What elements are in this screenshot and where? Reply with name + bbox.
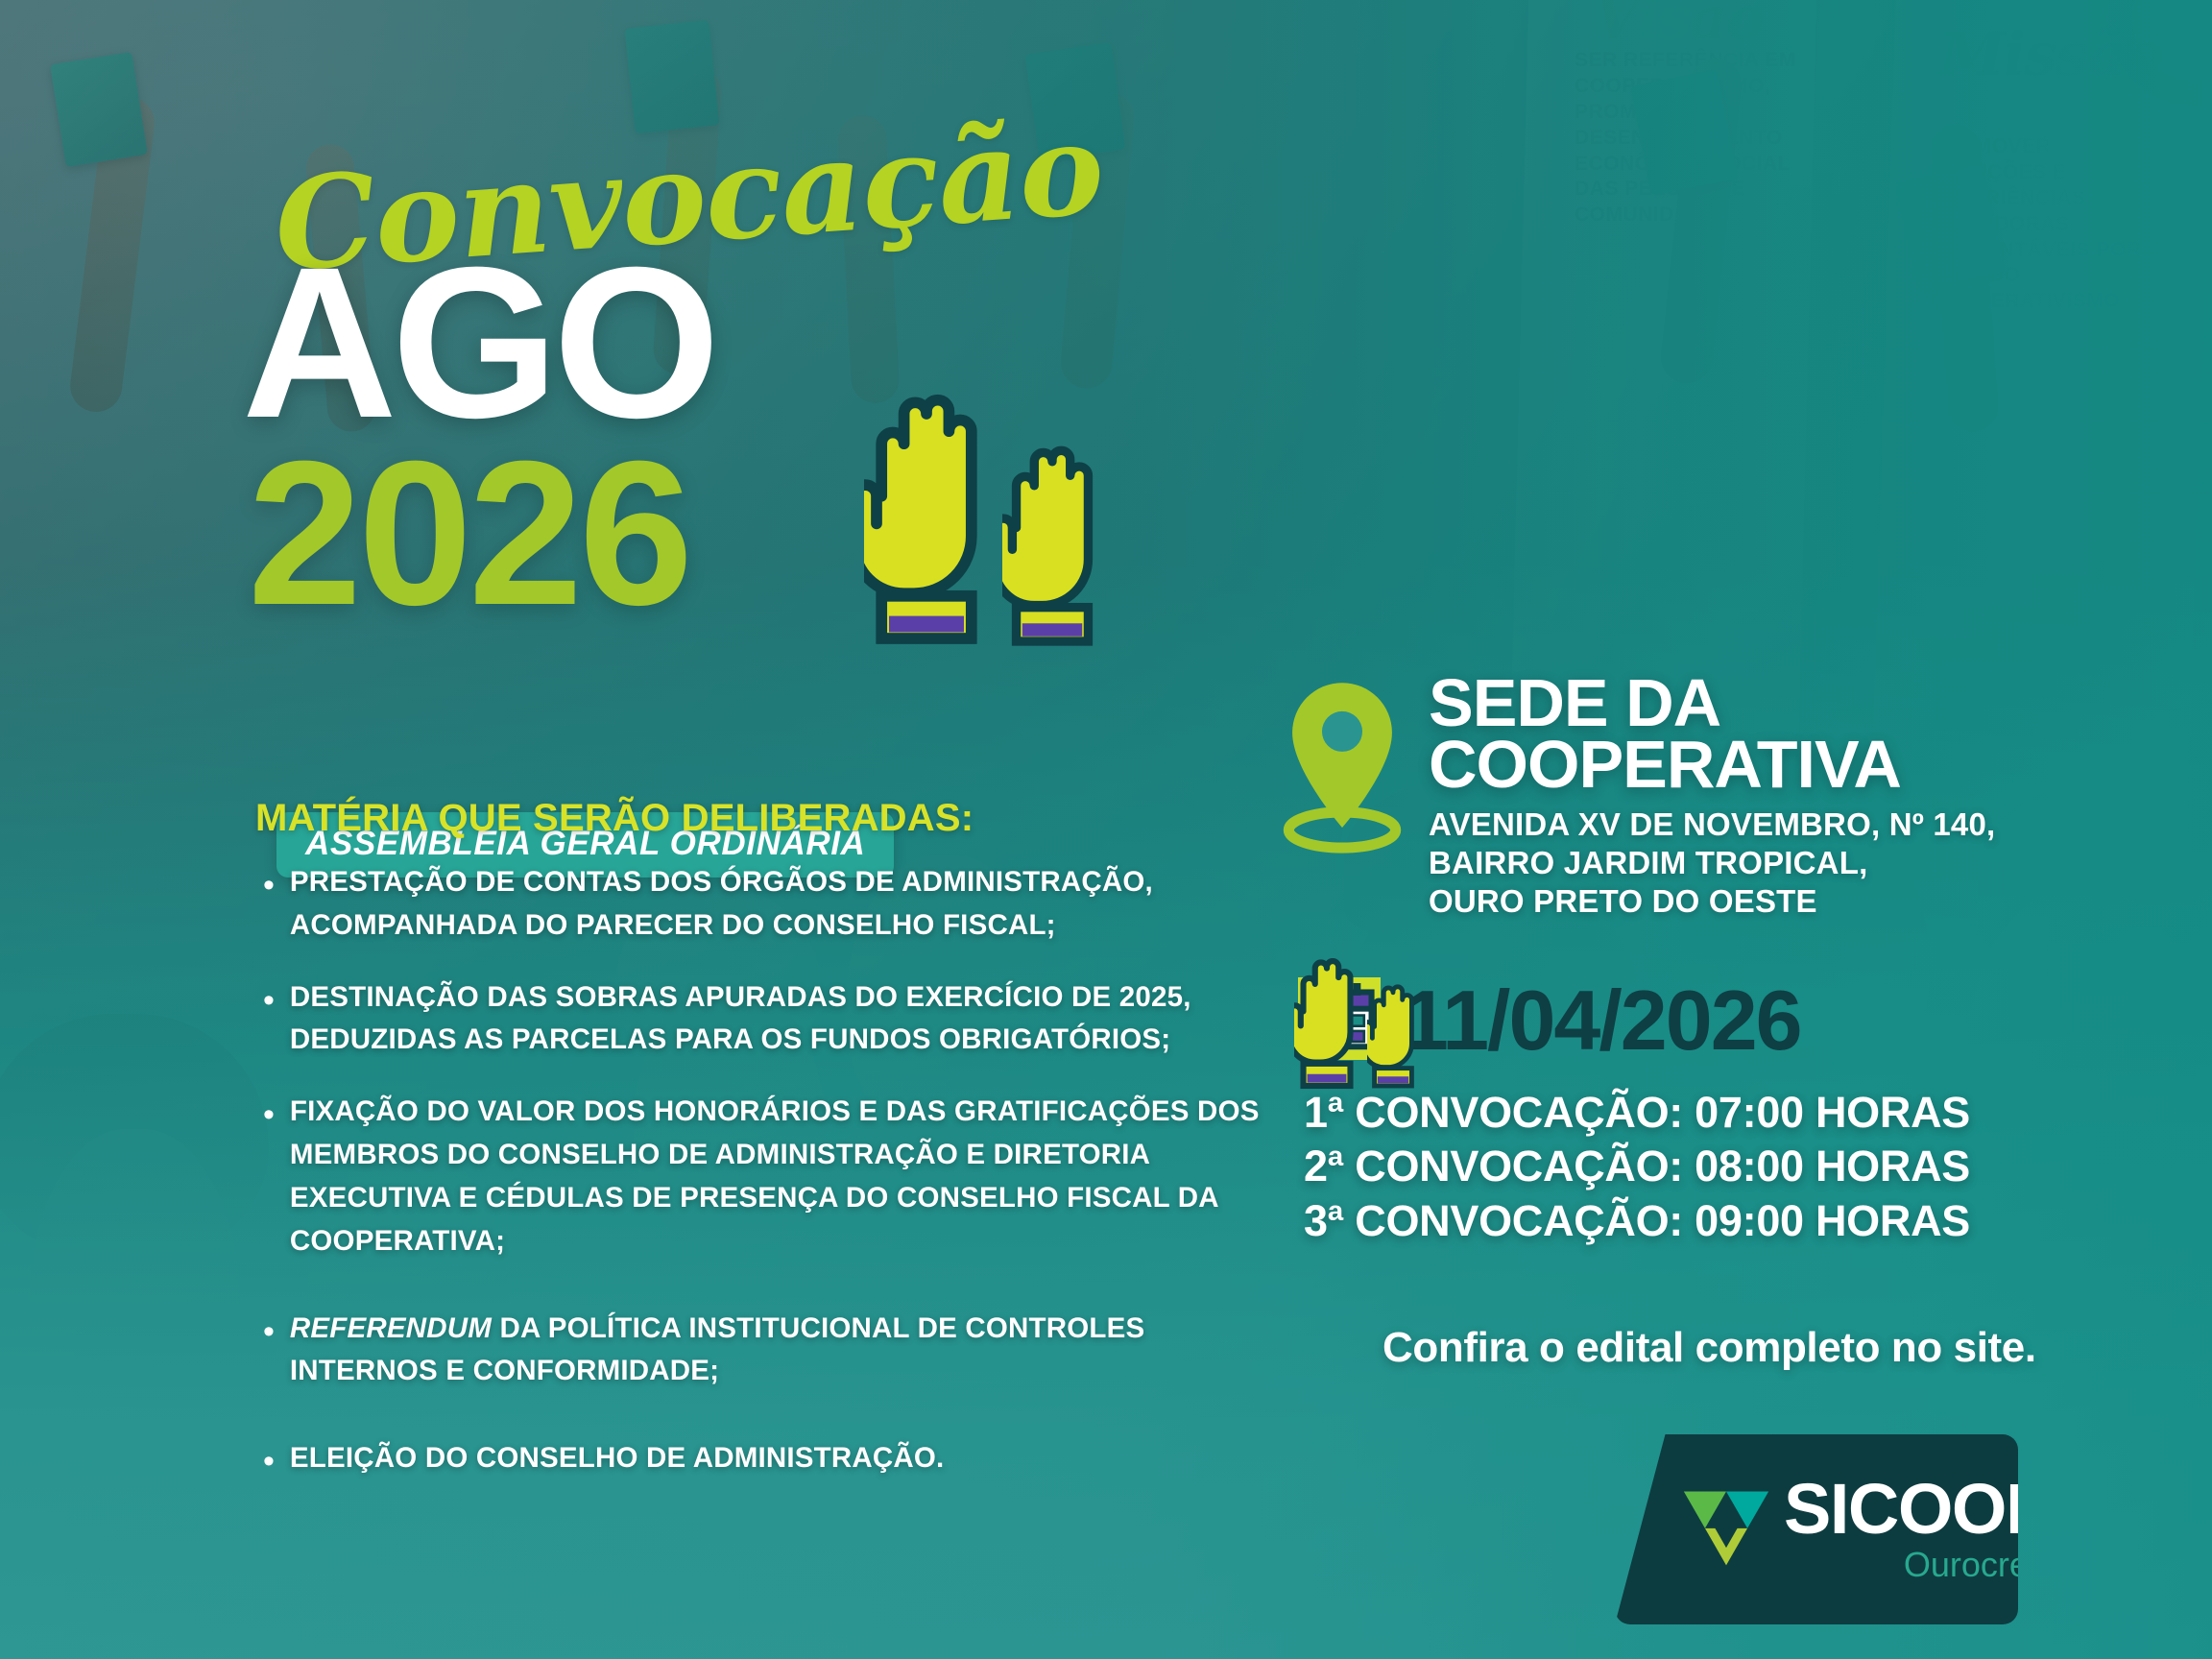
poster-root: Visão SER REFERÊNCIA EM COOPERATIVISMO, … [0, 0, 2212, 1659]
address-line-1: AVENIDA XV DE NOVEMBRO, Nº 140, [1429, 805, 1995, 844]
bullet-icon: • [263, 869, 275, 948]
agenda-item: • ELEIÇÃO DO CONSELHO DE ADMINISTRAÇÃO. [255, 1437, 1273, 1480]
agenda-item-text: ELEIÇÃO DO CONSELHO DE ADMINISTRAÇÃO. [290, 1437, 945, 1480]
raised-hands-icon-large [864, 374, 1102, 653]
location-title-line1: SEDE DA [1429, 672, 1995, 733]
location-address: AVENIDA XV DE NOVEMBRO, Nº 140, BAIRRO J… [1429, 805, 1995, 922]
convocation-time: 3ª CONVOCAÇÃO: 09:00 HORAS [1304, 1194, 2189, 1249]
bullet-icon: • [263, 1098, 275, 1262]
location-title-line2: COOPERATIVA [1429, 733, 1995, 795]
agenda-item: • PRESTAÇÃO DE CONTAS DOS ÓRGÃOS DE ADMI… [255, 861, 1273, 948]
agenda-item: • DESTINAÇÃO DAS SOBRAS APURADAS DO EXER… [255, 976, 1273, 1063]
convocation-time: 1ª CONVOCAÇÃO: 07:00 HORAS [1304, 1086, 2189, 1141]
address-line-2: BAIRRO JARDIM TROPICAL, [1429, 844, 1995, 882]
agenda-item-emphasis: REFERENDUM [290, 1312, 492, 1344]
logo-text: SICOOB Ourocredi [1784, 1477, 2056, 1582]
raised-hands-icon-small [1294, 949, 1419, 1093]
year-2026: 2026 [248, 449, 689, 617]
address-line-3: OURO PRETO DO OESTE [1429, 882, 1995, 921]
poster-content: Convocação AGO 2026 ASSEMBLEIA GERAL ORD… [0, 0, 2212, 1659]
sicoob-v-mark-icon [1680, 1480, 1772, 1577]
agenda-item-text: FIXAÇÃO DO VALOR DOS HONORÁRIOS E DAS GR… [290, 1091, 1273, 1262]
agenda-item-text: DESTINAÇÃO DAS SOBRAS APURADAS DO EXERCÍ… [290, 976, 1273, 1063]
hand-icon [864, 374, 989, 653]
event-date-row: 11/04/2026 [1298, 977, 2189, 1065]
bullet-icon: • [263, 1445, 275, 1480]
convocation-times: 1ª CONVOCAÇÃO: 07:00 HORAS 2ª CONVOCAÇÃO… [1304, 1086, 2189, 1249]
logo-inner: SICOOB Ourocredi [1615, 1477, 2056, 1582]
bullet-icon: • [263, 984, 275, 1063]
site-note: Confira o edital completo no site. [1382, 1324, 2189, 1372]
acronym-ago: AGO [242, 255, 714, 432]
agenda-item: • REFERENDUM DA POLÍTICA INSTITUCIONAL D… [255, 1308, 1273, 1394]
sicoob-logo: SICOOB Ourocredi [1615, 1434, 2018, 1624]
hand-icon [1367, 975, 1419, 1093]
logo-brand-name: SICOOB [1784, 1477, 2056, 1542]
location-text: SEDE DA COOPERATIVA AVENIDA XV DE NOVEMB… [1429, 672, 1995, 922]
convocation-time: 2ª CONVOCAÇÃO: 08:00 HORAS [1304, 1140, 2189, 1194]
agenda-section: MATÉRIA QUE SERÃO DELIBERADAS: • PRESTAÇ… [255, 797, 1273, 1509]
location-block: SEDE DA COOPERATIVA AVENIDA XV DE NOVEMB… [1277, 672, 2189, 922]
logo-cooperative-name: Ourocredi [1784, 1548, 2056, 1582]
hand-icon [1294, 949, 1359, 1093]
event-info-column: SEDE DA COOPERATIVA AVENIDA XV DE NOVEMB… [1277, 672, 2189, 1372]
bullet-icon: • [263, 1315, 275, 1394]
location-pin-icon [1277, 678, 1407, 861]
agenda-item-text: PRESTAÇÃO DE CONTAS DOS ÓRGÃOS DE ADMINI… [290, 861, 1273, 948]
agenda-item: • FIXAÇÃO DO VALOR DOS HONORÁRIOS E DAS … [255, 1091, 1273, 1262]
hand-icon [1002, 430, 1102, 653]
agenda-item-text: REFERENDUM DA POLÍTICA INSTITUCIONAL DE … [290, 1308, 1273, 1394]
agenda-title: MATÉRIA QUE SERÃO DELIBERADAS: [255, 797, 1273, 840]
event-date: 11/04/2026 [1402, 978, 1801, 1063]
